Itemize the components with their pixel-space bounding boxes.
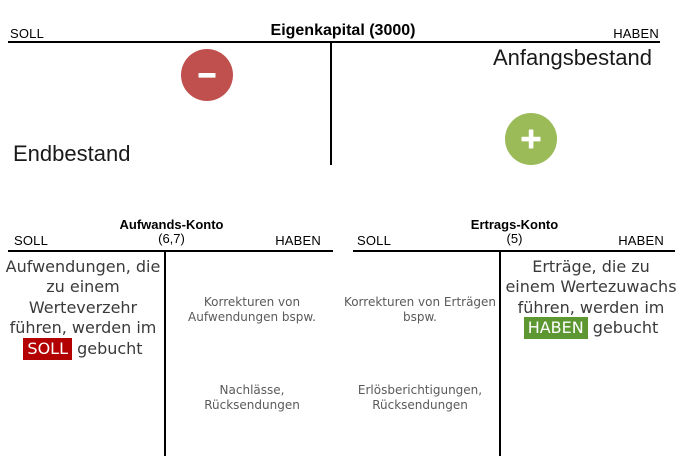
closing-balance-label: Endbestand — [13, 141, 130, 167]
ertrags-t-account: Ertrags-Konto (5) SOLL HABEN Korrekturen… — [343, 215, 686, 456]
eigenkapital-title: Eigenkapital (3000) — [0, 22, 686, 40]
eigenkapital-center-divider — [330, 43, 332, 165]
aufwands-haben-note-2: Nachlässe, Rücksendungen — [172, 383, 332, 414]
minus-circle-icon — [181, 49, 233, 101]
opening-balance-label: Anfangsbestand — [493, 45, 652, 71]
ertrags-header: Ertrags-Konto (5) SOLL HABEN — [343, 215, 686, 253]
aufwands-haben-note-1: Korrekturen von Aufwendungen bspw. — [172, 295, 332, 326]
ertrags-haben-label: HABEN — [618, 233, 664, 248]
aufwands-haben-label: HABEN — [275, 233, 321, 248]
eigenkapital-header-rule — [8, 41, 660, 43]
ertrags-haben-text-after: gebucht — [588, 318, 659, 337]
soll-keyword-highlight: SOLL — [23, 338, 72, 360]
haben-keyword-highlight: HABEN — [524, 317, 588, 339]
ertrags-center-divider — [499, 252, 501, 456]
aufwands-t-account: Aufwands-Konto (6,7) SOLL HABEN Aufwendu… — [0, 215, 343, 456]
ertrags-soll-note-2: Erlösberichtigungen, Rücksendungen — [343, 383, 497, 414]
aufwands-soll-text-before: Aufwendungen, die zu einem Werteverzehr … — [6, 257, 161, 337]
ertrags-soll-note-1: Korrekturen von Erträgen bspw. — [343, 295, 497, 326]
plus-circle-icon — [505, 113, 557, 165]
aufwands-soll-text-after: gebucht — [72, 339, 143, 358]
ertrags-soll-label: SOLL — [357, 233, 391, 248]
aufwands-title: Aufwands-Konto — [0, 218, 343, 232]
ertrags-title: Ertrags-Konto — [343, 218, 686, 232]
eigenkapital-haben-label: HABEN — [613, 26, 659, 41]
aufwands-soll-label: SOLL — [14, 233, 48, 248]
aufwands-center-divider — [164, 252, 166, 456]
eigenkapital-soll-label: SOLL — [10, 26, 44, 41]
aufwands-header: Aufwands-Konto (6,7) SOLL HABEN — [0, 215, 343, 253]
ertrags-haben-text-before: Erträge, die zu einem Wertezuwachs führe… — [505, 257, 676, 317]
eigenkapital-t-account: Eigenkapital (3000) SOLL HABEN Anfangsbe… — [0, 0, 686, 215]
ertrags-haben-text: Erträge, die zu einem Wertezuwachs führe… — [505, 257, 677, 339]
ertrags-header-rule — [353, 250, 675, 252]
aufwands-soll-text: Aufwendungen, die zu einem Werteverzehr … — [4, 257, 162, 359]
aufwands-header-rule — [8, 250, 333, 252]
